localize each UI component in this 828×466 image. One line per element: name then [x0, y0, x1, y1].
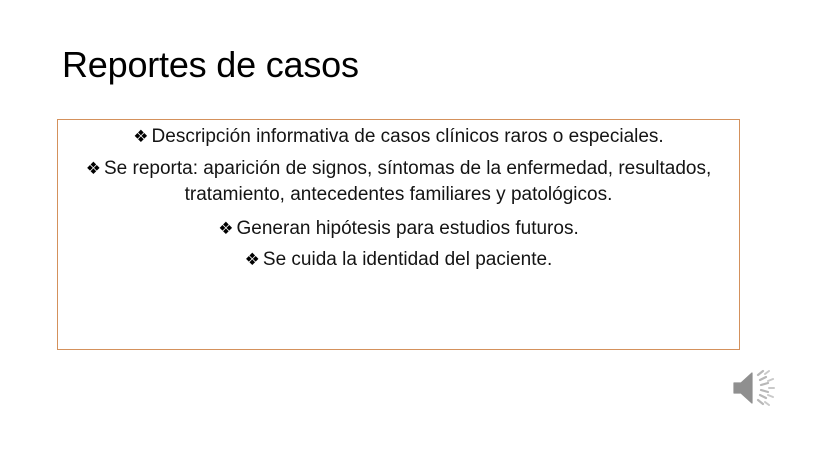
speaker-icon-glyph — [730, 366, 782, 410]
diamond-bullet-icon: ❖ — [86, 159, 104, 179]
diamond-bullet-icon: ❖ — [133, 127, 151, 147]
list-item: ❖Se cuida la identidad del paciente. — [66, 247, 731, 274]
list-item-label: Generan hipótesis para estudios futuros. — [237, 218, 579, 239]
bullet-list: ❖Descripción informativa de casos clínic… — [66, 124, 731, 274]
list-item-label: Se cuida la identidad del paciente. — [263, 249, 552, 270]
list-item: ❖Descripción informativa de casos clínic… — [66, 124, 731, 151]
diamond-bullet-icon: ❖ — [245, 250, 263, 270]
list-item-label: Se reporta: aparición de signos, síntoma… — [104, 158, 711, 206]
list-item-label: Descripción informativa de casos clínico… — [152, 126, 664, 147]
diamond-bullet-icon: ❖ — [218, 219, 236, 239]
list-item: ❖Se reporta: aparición de signos, síntom… — [66, 156, 731, 209]
list-item: ❖Generan hipótesis para estudios futuros… — [66, 216, 731, 243]
page-title: Reportes de casos — [62, 44, 359, 85]
presentation-slide: Reportes de casos ❖Descripción informati… — [0, 0, 828, 466]
speaker-icon[interactable] — [730, 366, 782, 410]
content-text-box[interactable]: ❖Descripción informativa de casos clínic… — [57, 119, 740, 350]
